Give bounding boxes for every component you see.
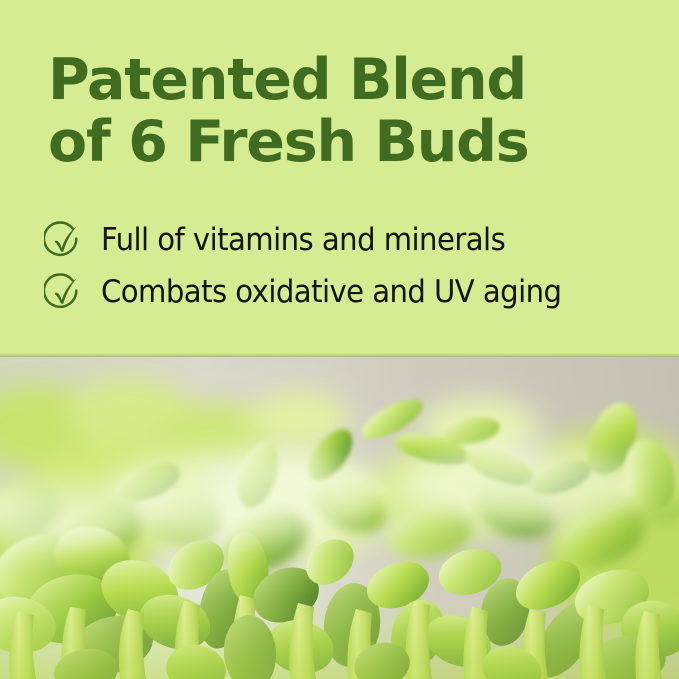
page-title: Patented Blend of 6 Fresh Buds	[48, 49, 648, 173]
list-item: Combats oxidative and UV aging	[44, 266, 664, 318]
feature-list: Full of vitamins and minerals Combats ox…	[44, 214, 664, 318]
list-item-label: Combats oxidative and UV aging	[101, 275, 561, 309]
product-infographic: Patented Blend of 6 Fresh Buds Full of v…	[0, 0, 679, 679]
check-circle-icon	[44, 221, 82, 259]
feature-panel: Patented Blend of 6 Fresh Buds Full of v…	[0, 0, 679, 357]
list-item-label: Full of vitamins and minerals	[101, 223, 505, 257]
list-item: Full of vitamins and minerals	[44, 214, 664, 266]
microgreens-photo	[0, 357, 679, 679]
check-circle-icon	[44, 273, 82, 311]
